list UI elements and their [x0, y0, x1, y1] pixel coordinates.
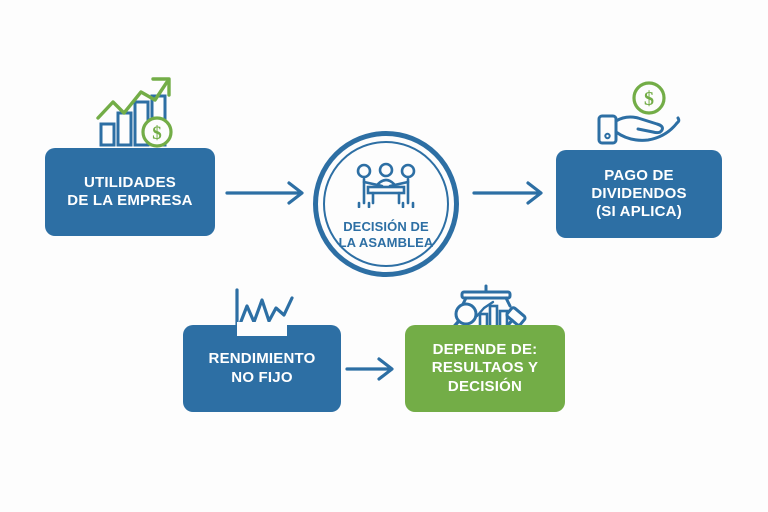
node-pago-dividendos-label: PAGO DE DIVIDENDOS (SI APLICA): [591, 167, 686, 222]
node-rendimiento-label: RENDIMIENTO NO FIJO: [209, 350, 316, 387]
arrow-asamblea-to-pago: [472, 180, 556, 206]
arrow-utilidades-to-asamblea: [225, 180, 317, 206]
arrow-rendimiento-to-depende: [345, 356, 405, 382]
node-asamblea-label: DECISIÓN DE LA ASAMBLEA: [339, 219, 434, 250]
diagram-canvas: $ UTILIDADES DE LA EMPRESA: [0, 0, 768, 512]
node-utilidades[interactable]: UTILIDADES DE LA EMPRESA: [45, 148, 215, 236]
node-rendimiento[interactable]: RENDIMIENTO NO FIJO: [183, 325, 341, 412]
rendimiento-box-notch: [237, 322, 287, 336]
svg-text:$: $: [152, 123, 162, 144]
node-pago-dividendos[interactable]: PAGO DE DIVIDENDOS (SI APLICA): [556, 150, 722, 238]
node-depende-de[interactable]: DEPENDE DE: RESULTAOS Y DECISIÓN: [405, 325, 565, 412]
node-asamblea[interactable]: DECISIÓN DE LA ASAMBLEA: [313, 131, 459, 277]
bar-chart-growth-dollar-icon: $: [95, 72, 180, 150]
node-utilidades-label: UTILIDADES DE LA EMPRESA: [67, 174, 192, 211]
hand-holding-coin-icon: $: [594, 80, 689, 152]
assembly-meeting-icon: [351, 162, 421, 213]
svg-text:$: $: [644, 88, 654, 110]
node-depende-de-label: DEPENDE DE: RESULTAOS Y DECISIÓN: [432, 341, 538, 396]
